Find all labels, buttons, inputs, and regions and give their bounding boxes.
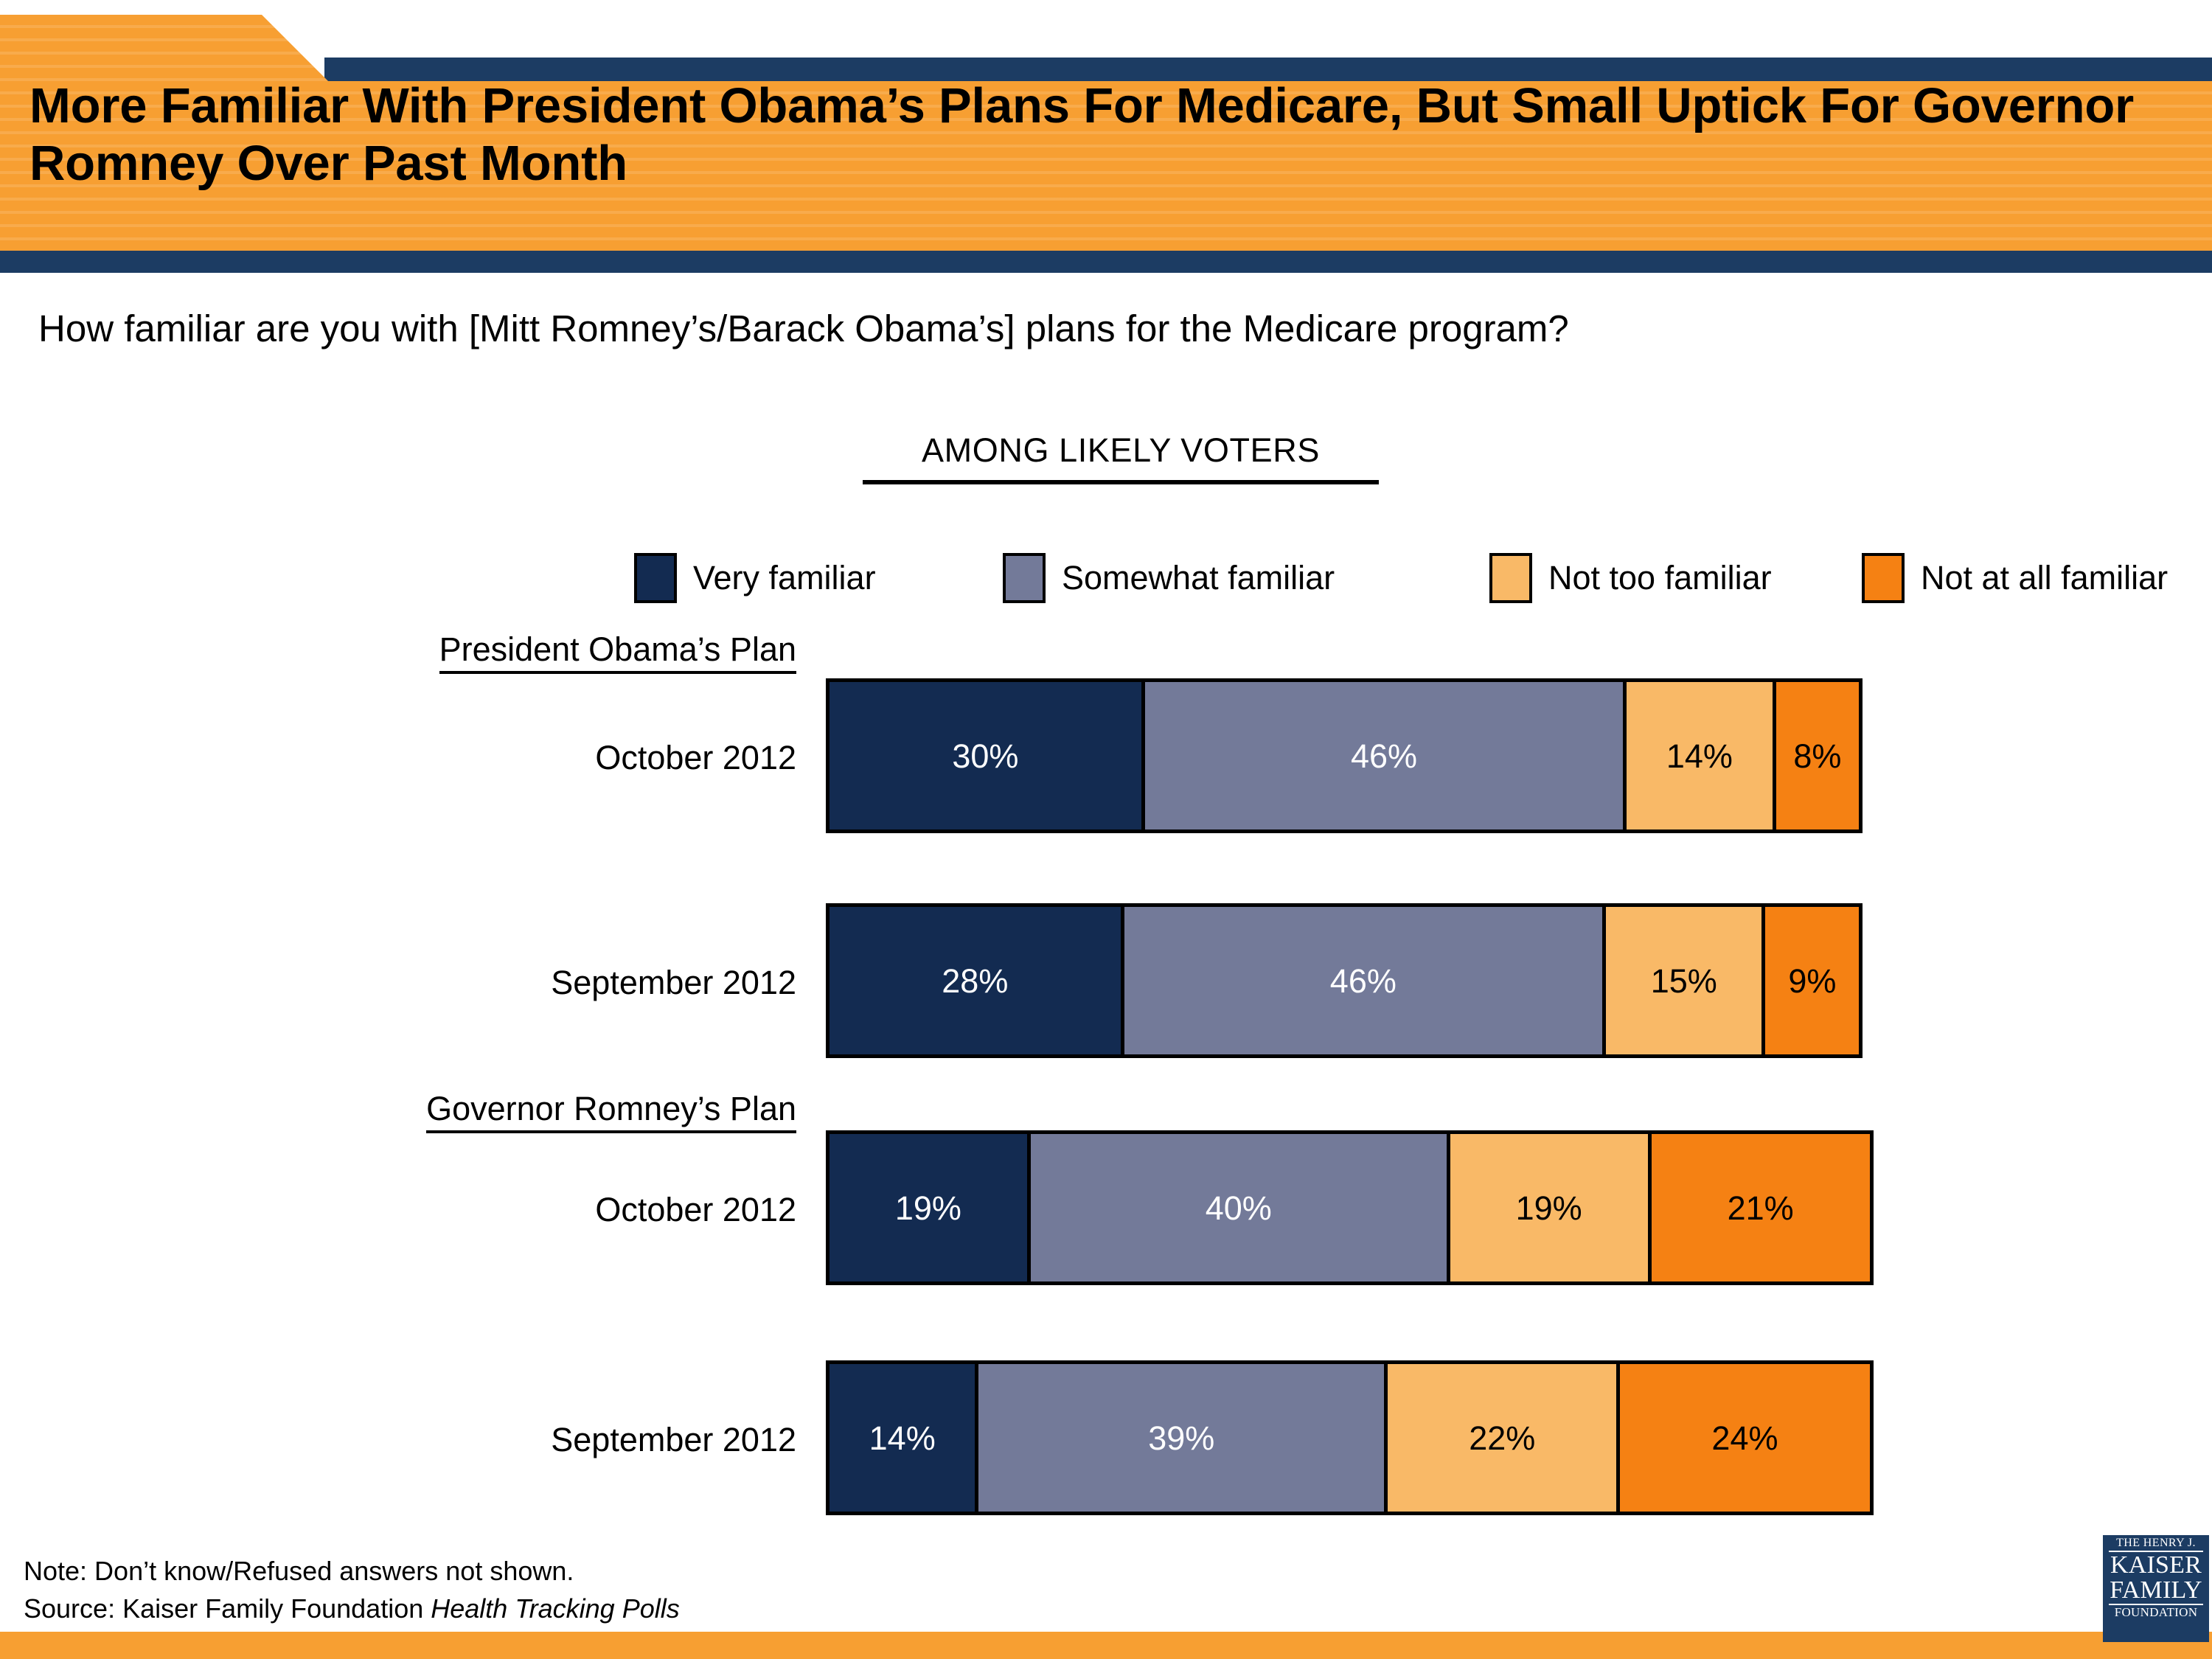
chart-bar: 30%46%14%8% [826,678,1863,833]
chart-bar-segment[interactable]: 28% [829,907,1124,1054]
legend-label-somewhat-familiar: Somewhat familiar [1062,559,1335,597]
chart-bar-segment[interactable]: 8% [1776,682,1860,829]
kaiser-family-foundation-logo: THE HENRY J. KAISER FAMILY FOUNDATION [2103,1535,2209,1642]
footer-notes: Note: Don’t know/Refused answers not sho… [24,1552,680,1627]
chart-bar-segment[interactable]: 14% [829,1364,978,1512]
footer-source-publication: Health Tracking Polls [431,1593,679,1624]
legend-item-not-too-familiar[interactable]: Not too familiar [1489,552,1772,605]
chart-bar-segment[interactable]: 46% [1124,907,1606,1054]
chart-bar-segment-value: 30% [952,740,1018,773]
chart-bar: 28%46%15%9% [826,903,1863,1058]
chart-bar-segment-value: 19% [1516,1192,1582,1225]
stacked-bar-chart: President Obama’s PlanOctober 201230%46%… [0,634,2212,1519]
chart-bar-segment[interactable]: 19% [829,1134,1031,1281]
header-navy-underline [0,251,2212,273]
logo-line-the-henry-j: THE HENRY J. [2103,1537,2209,1550]
chart-category-label: September 2012 [280,1421,796,1459]
slide-canvas: More Familiar With President Obama’s Pla… [0,0,2212,1659]
footer-source-prefix: Source: Kaiser Family Foundation [24,1593,431,1624]
chart-bar-segment-value: 19% [895,1192,961,1225]
legend-swatch-not-too-familiar [1489,553,1532,603]
legend-swatch-somewhat-familiar [1003,553,1046,603]
chart-bar-segment[interactable]: 15% [1606,907,1765,1054]
chart-bar-segment[interactable]: 40% [1031,1134,1450,1281]
chart-bar-segment[interactable]: 39% [978,1364,1388,1512]
legend-item-very-familiar[interactable]: Very familiar [634,552,876,605]
chart-bar-segment[interactable]: 22% [1388,1364,1620,1512]
legend-label-not-too-familiar: Not too familiar [1548,559,1772,597]
chart-group-label: Governor Romney’s Plan [280,1090,796,1128]
chart-bar-segment-value: 28% [942,964,1008,998]
page-title: More Familiar With President Obama’s Pla… [29,77,2183,192]
population-subhead-label: AMONG LIKELY VOTERS [855,431,1386,470]
legend-swatch-not-at-all-familiar [1862,553,1905,603]
logo-line-foundation: FOUNDATION [2103,1606,2209,1620]
chart-bar-segment-value: 46% [1351,740,1417,773]
chart-bar-segment-value: 14% [869,1422,936,1455]
chart-category-label: October 2012 [280,1191,796,1229]
chart-bar-segment[interactable]: 19% [1450,1134,1652,1281]
chart-bar-segment[interactable]: 30% [829,682,1145,829]
chart-category-label: October 2012 [280,739,796,777]
chart-bar-segment-value: 15% [1651,964,1717,998]
chart-legend: Very familiar Somewhat familiar Not too … [317,552,1939,605]
chart-bar-segment-value: 9% [1788,964,1836,998]
chart-bar: 14%39%22%24% [826,1360,1874,1515]
chart-bar-segment-value: 40% [1206,1192,1272,1225]
chart-bar-segment[interactable]: 24% [1620,1364,1869,1512]
legend-item-not-at-all-familiar[interactable]: Not at all familiar [1862,552,2168,605]
logo-line-kaiser: KAISER [2103,1553,2209,1578]
chart-group-label: President Obama’s Plan [280,630,796,669]
chart-category-label: September 2012 [280,964,796,1002]
legend-swatch-very-familiar [634,553,677,603]
chart-bar-segment-value: 22% [1469,1422,1535,1455]
chart-bar-segment-value: 8% [1793,740,1841,773]
legend-label-very-familiar: Very familiar [693,559,876,597]
chart-bar: 19%40%19%21% [826,1130,1874,1285]
population-subhead-rule [863,480,1379,484]
legend-label-not-at-all-familiar: Not at all familiar [1921,559,2168,597]
chart-bar-segment-value: 14% [1666,740,1733,773]
chart-bar-segment[interactable]: 21% [1652,1134,1870,1281]
population-subhead: AMONG LIKELY VOTERS [855,431,1386,484]
survey-question: How familiar are you with [Mitt Romney’s… [38,306,2140,351]
chart-bar-segment-value: 21% [1728,1192,1794,1225]
chart-group-label-text: President Obama’s Plan [439,630,796,674]
chart-bar-segment-value: 46% [1330,964,1397,998]
logo-line-family: FAMILY [2103,1578,2209,1603]
chart-bar-segment-value: 39% [1148,1422,1214,1455]
chart-bar-segment[interactable]: 14% [1627,682,1775,829]
chart-bar-segment[interactable]: 46% [1145,682,1627,829]
legend-item-somewhat-familiar[interactable]: Somewhat familiar [1003,552,1335,605]
footer-note-line: Note: Don’t know/Refused answers not sho… [24,1552,680,1590]
chart-group-label-text: Governor Romney’s Plan [426,1090,796,1133]
slide-header: More Familiar With President Obama’s Pla… [0,0,2212,273]
chart-bar-segment[interactable]: 9% [1765,907,1859,1054]
chart-bar-segment-value: 24% [1711,1422,1778,1455]
footer-orange-bar [0,1632,2212,1659]
footer-source-line: Source: Kaiser Family Foundation Health … [24,1590,680,1627]
